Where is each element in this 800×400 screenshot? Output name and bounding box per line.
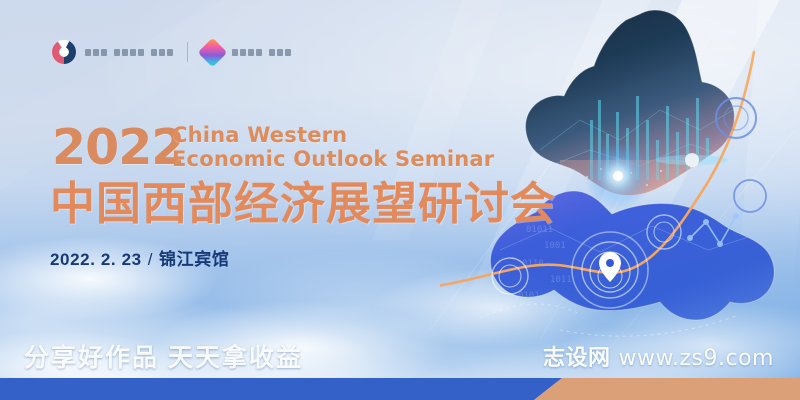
watermark-slogan: 分享好作品 天天拿收益 — [24, 338, 303, 374]
location-pin-icon — [599, 252, 621, 282]
logo-label-2 — [232, 49, 291, 56]
radar-ring-icon — [647, 215, 681, 249]
svg-text:0101: 0101 — [518, 291, 540, 301]
svg-text:1011: 1011 — [550, 275, 572, 285]
page-title-english: China Western Economic Outlook Seminar — [172, 124, 494, 171]
blue-line-chart-icon — [688, 214, 738, 246]
watermark-site-name: 志设网 — [543, 345, 611, 370]
poster-canvas: 010111001 01101011 0101 — [0, 0, 800, 400]
light-burst-icon — [584, 142, 652, 210]
watermark-site-url: www.zs9.com — [619, 346, 774, 371]
korea-government-taeguk-emblem-icon — [52, 40, 76, 64]
meta-separator: / — [142, 250, 159, 269]
cloud-wisp — [370, 268, 620, 348]
svg-text:0110: 0110 — [522, 259, 544, 269]
english-line-1: China Western — [172, 124, 494, 148]
logo-label-1 — [85, 49, 173, 56]
bottom-color-bar — [0, 378, 800, 400]
radar-ring-icon — [492, 258, 528, 294]
sponsor-logo-bar — [52, 40, 291, 64]
gradient-diamond-logo-icon — [198, 37, 228, 67]
english-line-2: Economic Outlook Seminar — [172, 148, 494, 172]
watermark-site: 志设网www.zs9.com — [543, 340, 774, 372]
logo-divider — [187, 42, 188, 62]
radar-ring-icon — [734, 180, 766, 212]
page-title-year: 2022 — [52, 123, 184, 172]
radar-ring-icon — [572, 232, 648, 308]
radar-ring-icon — [716, 98, 756, 138]
event-date: 2022. 2. 23 — [50, 250, 142, 269]
svg-text:1001: 1001 — [544, 241, 566, 251]
event-meta: 2022. 2. 23/锦江宾馆 — [50, 245, 229, 270]
logo-korea-government — [52, 40, 173, 64]
page-title-chinese: 中国西部经济展望研讨会 — [50, 180, 556, 229]
logo-partner-organization — [202, 42, 291, 63]
event-venue: 锦江宾馆 — [159, 250, 229, 269]
